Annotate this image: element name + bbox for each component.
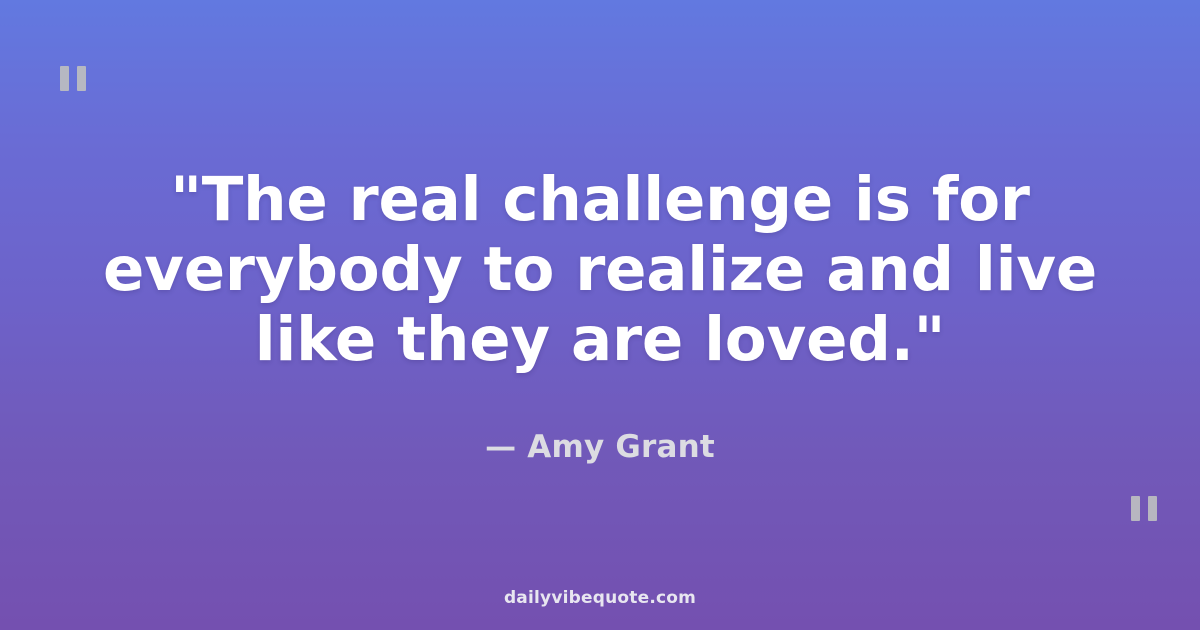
footer: dailyvibequote.com [0,588,1200,608]
footer-site-label: dailyvibequote.com [504,588,696,608]
quote-text: "The real challenge is for everybody to … [58,165,1143,375]
quote-content: "The real challenge is for everybody to … [0,0,1200,630]
quote-card: "The real challenge is for everybody to … [0,0,1200,630]
quote-attribution: — Amy Grant [485,429,715,465]
